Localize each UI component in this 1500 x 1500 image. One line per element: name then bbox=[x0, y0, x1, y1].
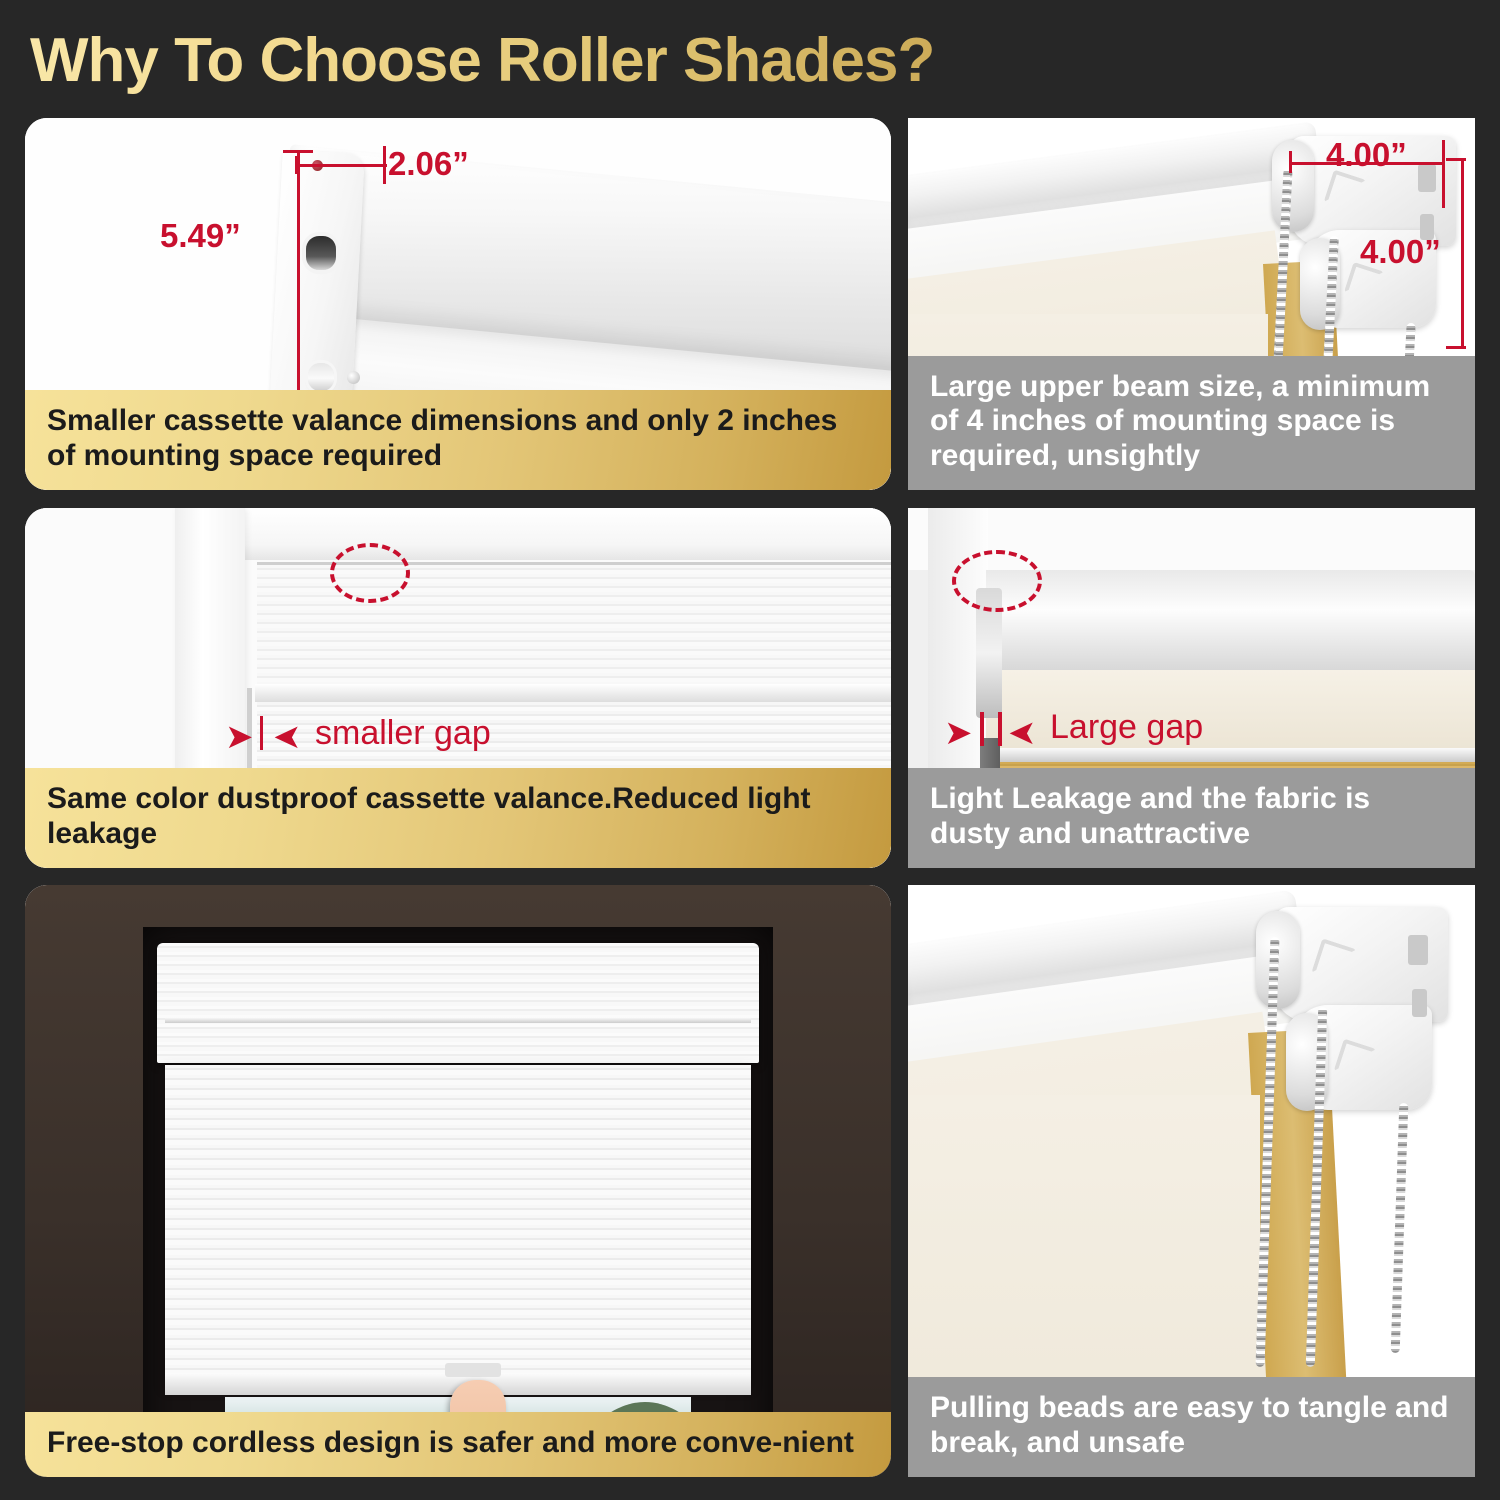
gap-callout-label: Large gap bbox=[1050, 708, 1203, 747]
panel-caption: Free-stop cordless design is safer and m… bbox=[25, 1412, 891, 1477]
width-dimension-label: 2.06” bbox=[388, 145, 469, 183]
height-dimension-label: 4.00” bbox=[1360, 233, 1441, 271]
panel-caption: Light Leakage and the fabric is dusty an… bbox=[908, 768, 1475, 868]
panel-caption: Large upper beam size, a minimum of 4 in… bbox=[908, 356, 1475, 490]
mechanism-slot bbox=[306, 236, 336, 270]
gap-arrow-right-icon: ➤ bbox=[273, 720, 302, 754]
panel-large-upper-beam: 4.00” 4.00” Large upper beam size, a min… bbox=[908, 118, 1475, 490]
width-dimension-label: 4.00” bbox=[1326, 136, 1407, 174]
height-dimension-label: 5.49” bbox=[160, 217, 241, 255]
highlight-circle bbox=[330, 543, 410, 603]
screw-icon bbox=[347, 371, 360, 384]
mounting-knob bbox=[308, 363, 334, 391]
highlight-circle bbox=[952, 550, 1042, 612]
panel-dustproof-cassette-valance: ➤ ➤ smaller gap Same color dustproof cas… bbox=[25, 508, 891, 868]
page-title: Why To Choose Roller Shades? bbox=[30, 22, 1230, 100]
infographic-page: Why To Choose Roller Shades? 2.06” 5.49”… bbox=[0, 0, 1500, 1500]
pull-tab[interactable] bbox=[445, 1363, 501, 1377]
gap-arrow-left-icon: ➤ bbox=[225, 720, 254, 754]
panel-pulling-beads: Pulling beads are easy to tangle and bre… bbox=[908, 885, 1475, 1477]
gap-arrow-left-icon: ➤ bbox=[944, 716, 973, 750]
gap-arrow-right-icon: ➤ bbox=[1008, 716, 1037, 750]
panel-caption: Same color dustproof cassette valance.Re… bbox=[25, 768, 891, 868]
product-photo-window-scene bbox=[25, 885, 891, 1477]
panel-cassette-valance-dimensions: 2.06” 5.49” Smaller cassette valance dim… bbox=[25, 118, 891, 490]
panel-light-leakage: ➤ ➤ Large gap Light Leakage and the fabr… bbox=[908, 508, 1475, 868]
panel-caption: Pulling beads are easy to tangle and bre… bbox=[908, 1377, 1475, 1477]
panel-caption: Smaller cassette valance dimensions and … bbox=[25, 390, 891, 490]
panel-free-stop-cordless: Free-stop cordless design is safer and m… bbox=[25, 885, 891, 1477]
gap-callout-label: smaller gap bbox=[315, 714, 491, 753]
